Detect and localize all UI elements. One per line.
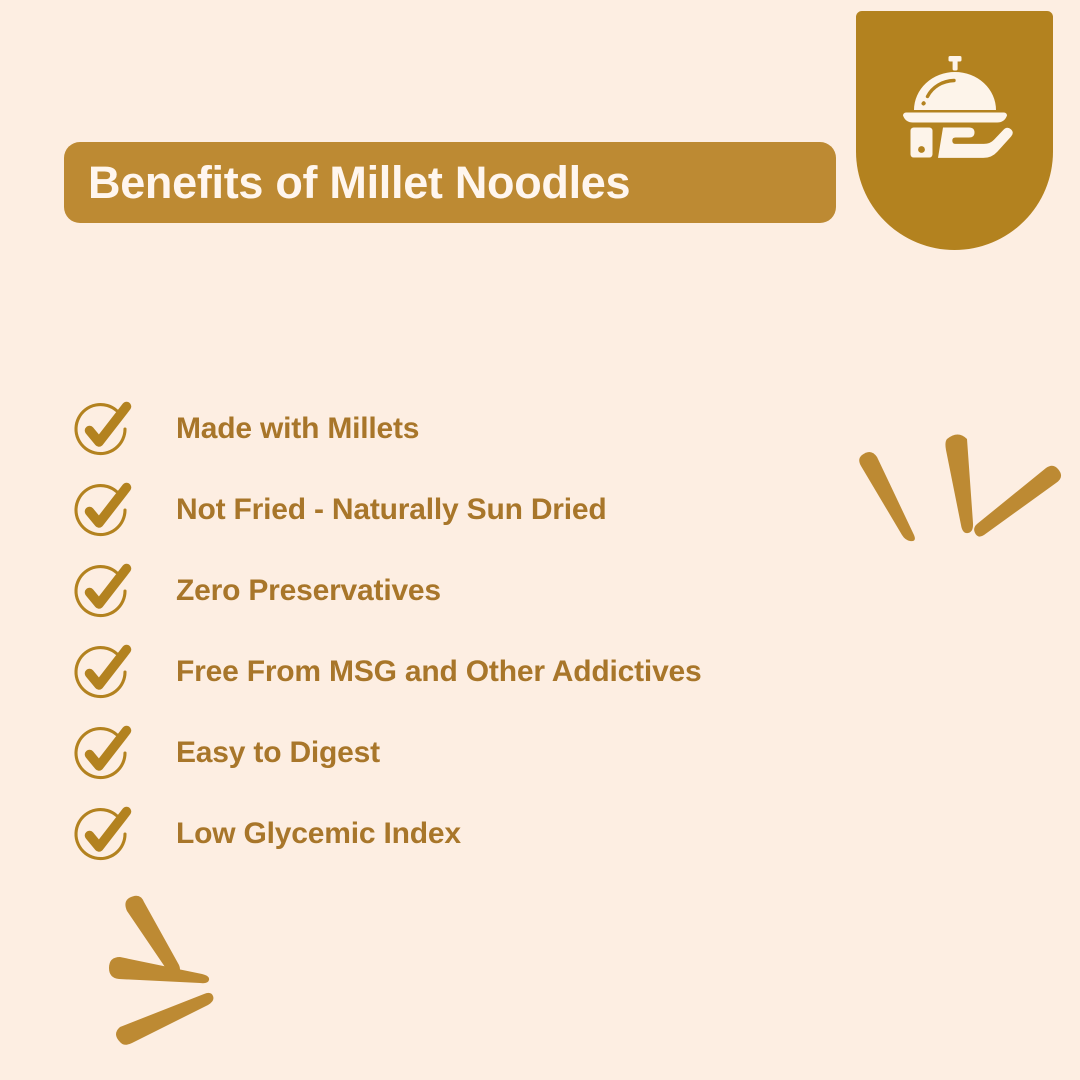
list-item-label: Not Fried - Naturally Sun Dried: [176, 493, 607, 527]
check-circle-icon: [71, 397, 135, 461]
check-circle-icon: [71, 559, 135, 623]
spark-burst-icon: [852, 432, 1068, 572]
serving-dome-on-hand-icon: [897, 49, 1013, 165]
list-item-label: Zero Preservatives: [176, 574, 441, 608]
list-item: Free From MSG and Other Addictives: [68, 631, 928, 712]
list-item: Made with Millets: [68, 388, 928, 469]
list-item: Not Fried - Naturally Sun Dried: [68, 469, 928, 550]
page-title: Benefits of Millet Noodles: [88, 157, 630, 209]
list-item: Easy to Digest: [68, 712, 928, 793]
list-item-label: Free From MSG and Other Addictives: [176, 655, 702, 689]
spark-burst-icon: [104, 890, 264, 1050]
check-circle-icon: [71, 721, 135, 785]
check-circle-icon: [71, 640, 135, 704]
benefits-list: Made with Millets Not Fried - Naturally …: [68, 388, 928, 874]
title-banner: Benefits of Millet Noodles: [64, 142, 836, 223]
brand-badge: [856, 11, 1053, 250]
list-item-label: Low Glycemic Index: [176, 817, 461, 851]
check-circle-icon: [71, 802, 135, 866]
list-item: Zero Preservatives: [68, 550, 928, 631]
list-item: Low Glycemic Index: [68, 793, 928, 874]
list-item-label: Made with Millets: [176, 412, 419, 446]
list-item-label: Easy to Digest: [176, 736, 380, 770]
check-circle-icon: [71, 478, 135, 542]
